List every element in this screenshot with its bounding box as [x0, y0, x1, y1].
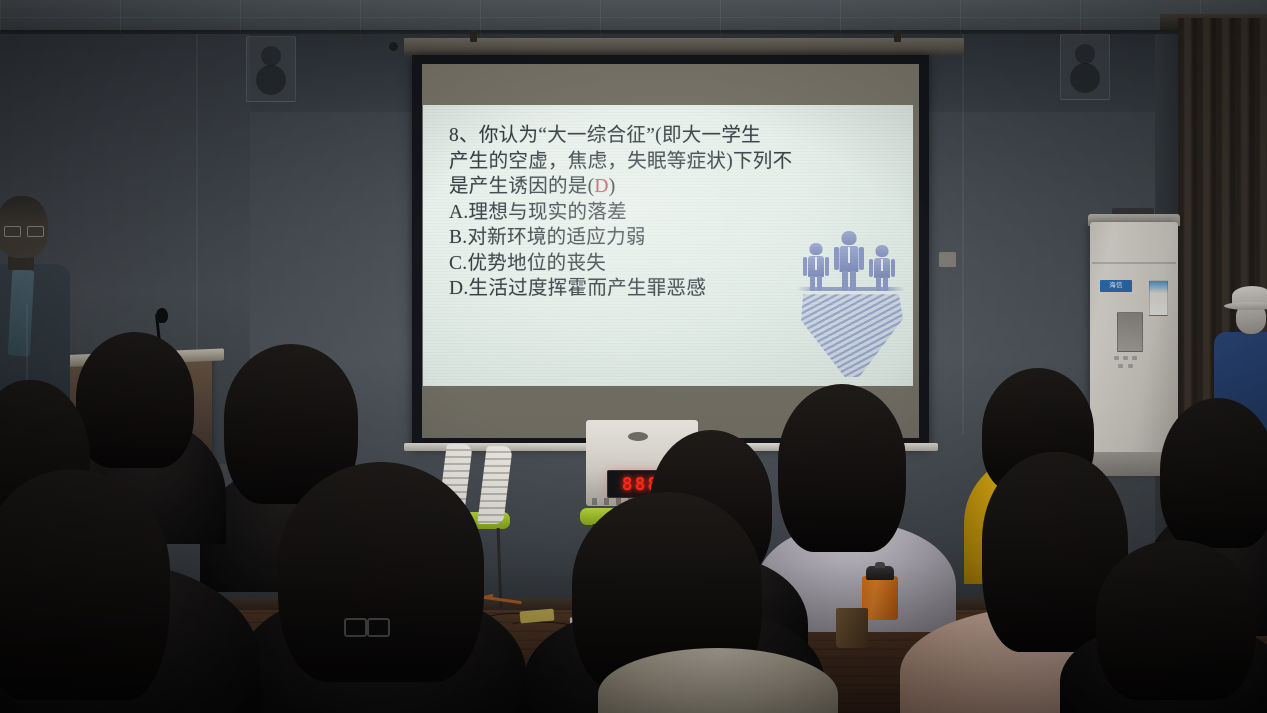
- lecture-hall-scene: 8、你认为“大一综合征”(即大一学生 产生的空虚，焦虑，失眠等症状)下列不 是产…: [0, 0, 1267, 713]
- ac-display-panel[interactable]: [1117, 312, 1143, 352]
- clipart-figure-left: [801, 243, 831, 291]
- figure-arm-left: [834, 247, 839, 270]
- slide-question-line-2: 产生的空虚，焦虑，失眠等症状)下列不: [449, 149, 879, 175]
- figure-arm-right: [859, 247, 864, 270]
- slide-question-line-1: 8、你认为“大一综合征”(即大一学生: [449, 123, 879, 149]
- figure-leg-right: [817, 276, 822, 291]
- slide-answer-close-paren: ): [609, 176, 616, 197]
- figure-head: [876, 245, 889, 257]
- ac-control-buttons[interactable]: [1114, 356, 1144, 370]
- wall-outlet: [939, 252, 956, 267]
- audience-glasses-icon: [344, 618, 390, 634]
- audience-hair: [0, 470, 170, 700]
- ac-brand-badge: 海信: [1100, 280, 1132, 292]
- console-knob[interactable]: [628, 432, 648, 441]
- figure-tie: [848, 247, 850, 263]
- presenter-scarf: [8, 269, 34, 356]
- speaker-tweeter-icon: [1075, 44, 1095, 64]
- figure-arm-left: [803, 257, 807, 276]
- wall-seam-right: [962, 34, 964, 434]
- slide-question-line-3: 是产生诱因的是(D): [449, 174, 879, 200]
- figure-head: [810, 243, 823, 255]
- figure-leg-left: [842, 271, 848, 291]
- figure-tie: [881, 259, 883, 271]
- audience-hair: [778, 384, 906, 552]
- presenter-glasses-icon: [4, 226, 44, 236]
- slide-question-line-3-text: 是产生诱因的是(: [449, 176, 594, 197]
- speaker-woofer-icon: [256, 65, 286, 95]
- audience-hair: [278, 462, 484, 682]
- ceiling-sensor-icon: [389, 42, 398, 51]
- audience-hair: [1160, 398, 1267, 548]
- slide-option-a: A.理想与现实的落差: [449, 200, 879, 226]
- ac-energy-label: [1149, 280, 1168, 316]
- hatched-mound-shape: [799, 289, 903, 377]
- valance-bracket-left: [470, 30, 477, 42]
- figure-leg-right: [883, 277, 888, 291]
- audience-hair: [1096, 540, 1256, 700]
- ac-panel-seam: [1092, 262, 1176, 264]
- clipart-figure-right: [867, 245, 897, 291]
- valance-bracket-right: [894, 30, 901, 42]
- figure-tie: [815, 257, 817, 270]
- figure-arm-right: [891, 259, 895, 277]
- thermos-knob: [875, 562, 885, 568]
- figure-leg-left: [876, 277, 881, 291]
- screen-valance-housing: [404, 38, 964, 56]
- speaker-woofer-icon: [1070, 63, 1100, 93]
- thermos-cap: [866, 566, 894, 580]
- wall-speaker-right-icon: [1060, 34, 1110, 100]
- figure-arm-left: [869, 259, 873, 277]
- clipart-figure-center: [832, 231, 866, 291]
- slide-answer-marker: D: [594, 176, 608, 197]
- microphone-icon: [156, 308, 168, 323]
- figure-leg-left: [810, 276, 815, 291]
- figure-head: [842, 231, 857, 245]
- figure-arm-right: [825, 257, 829, 276]
- audience-hair: [76, 332, 194, 468]
- speaker-tweeter-icon: [261, 46, 281, 66]
- wall-speaker-left-icon: [246, 36, 296, 102]
- figure-leg-right: [850, 271, 856, 291]
- three-people-on-hill-icon: [791, 227, 909, 379]
- projected-slide: 8、你认为“大一综合征”(即大一学生 产生的空虚，焦虑，失眠等症状)下列不 是产…: [423, 105, 913, 386]
- paper-cup[interactable]: [836, 608, 868, 648]
